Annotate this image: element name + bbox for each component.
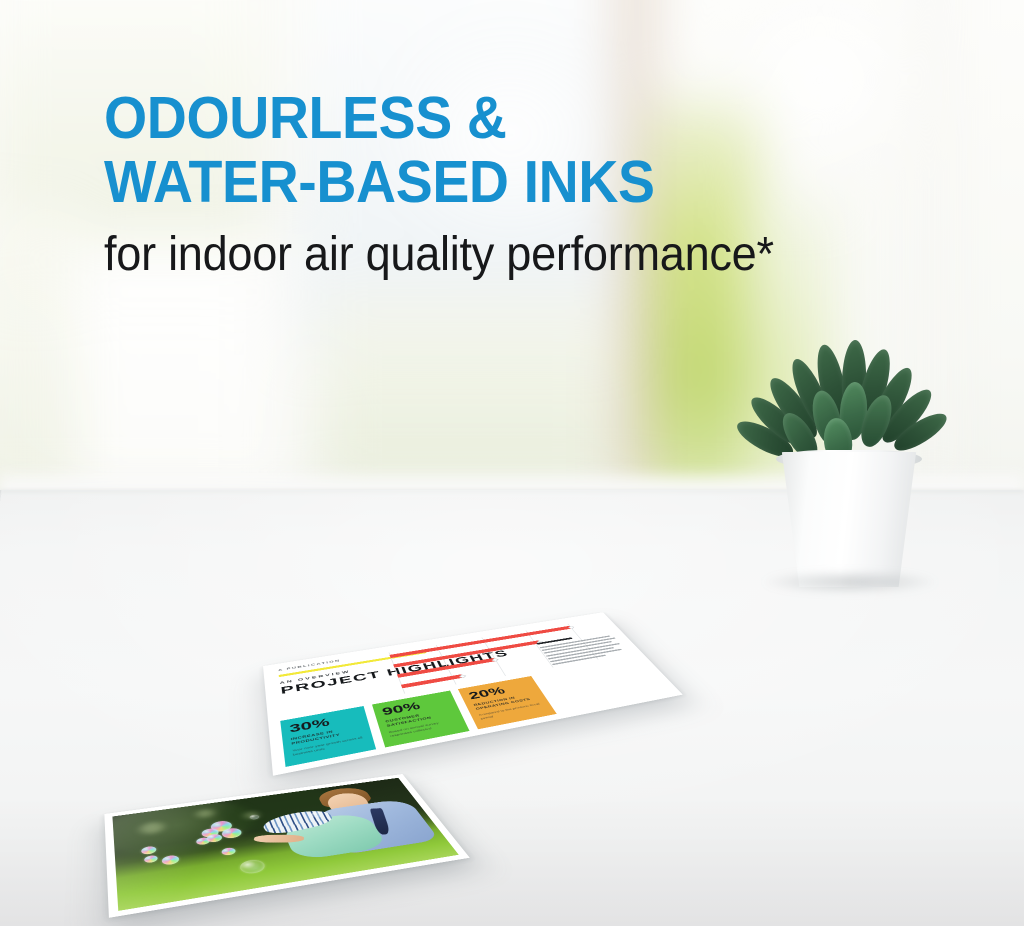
chart-bar-endpoint	[459, 675, 466, 679]
subheadline: for indoor air quality performance*	[104, 229, 931, 282]
soap-bubble	[144, 855, 158, 864]
headline-line-1: ODOURLESS &	[104, 86, 931, 150]
chart-bar-endpoint	[568, 626, 574, 629]
page-title: ODOURLESS & WATER-BASED INKS	[104, 86, 931, 215]
headline-line-2: WATER-BASED INKS	[104, 150, 931, 214]
child-arm	[253, 835, 304, 843]
potted-plant	[752, 332, 952, 592]
marketing-hero-image: ODOURLESS & WATER-BASED INKS for indoor …	[0, 0, 1024, 926]
chart-gridline	[481, 638, 506, 676]
hero-copy-block: ODOURLESS & WATER-BASED INKS for indoor …	[104, 86, 984, 281]
soap-bubble	[161, 854, 180, 865]
foliage-left	[0, 210, 80, 500]
stat-box: 30% INCREASE IN PRODUCTIVITY Year over y…	[280, 706, 376, 767]
chart-bar-endpoint	[492, 658, 499, 661]
window-pane-lower-center	[320, 290, 650, 490]
plant-pot	[776, 452, 922, 587]
stat-box: 20% REDUCTION IN OPERATING COSTS Compare…	[458, 676, 557, 729]
stat-box: 90% CUSTOMER SATISFACTION Based on annua…	[372, 691, 470, 748]
soap-bubble	[238, 858, 267, 875]
soap-bubble	[221, 847, 237, 856]
pot-shadow	[760, 570, 940, 594]
